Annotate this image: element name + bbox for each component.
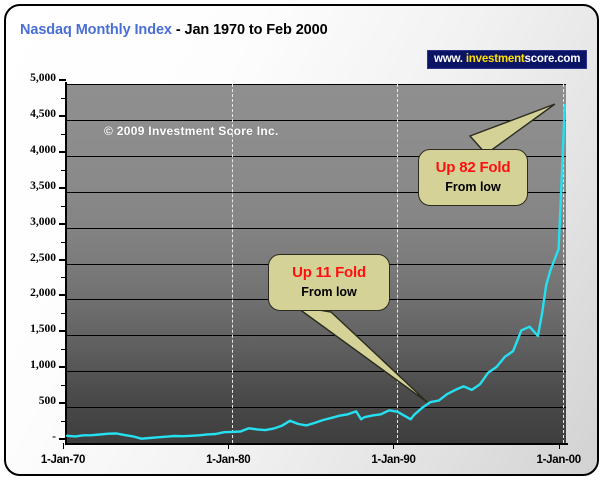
y-axis-major-tick <box>59 79 66 81</box>
badge-highlight: investment <box>466 53 525 65</box>
horizontal-gridline <box>67 335 566 336</box>
y-axis-tick-label: 4,000 <box>8 144 56 156</box>
y-axis-tick-label: 1,500 <box>8 323 56 335</box>
y-axis-tick-label: - <box>8 431 56 443</box>
title-primary: Nasdaq Monthly Index <box>20 22 172 38</box>
y-axis-tick-label: 4,500 <box>8 108 56 120</box>
badge-prefix: www. <box>434 53 466 65</box>
website-badge[interactable]: www. investmentscore.com <box>427 50 587 69</box>
x-axis-tick <box>228 443 229 449</box>
x-axis-tick <box>393 443 394 449</box>
horizontal-gridline <box>67 84 566 85</box>
y-axis-tick-label: 5,000 <box>8 72 56 84</box>
horizontal-gridline <box>67 120 566 121</box>
callout-11-subline: From low <box>269 285 389 300</box>
title-secondary: - Jan 1970 to Feb 2000 <box>172 22 328 38</box>
chart-screenshot: Nasdaq Monthly Index - Jan 1970 to Feb 2… <box>0 0 609 486</box>
callout-up-11-fold[interactable]: Up 11 Fold From low <box>268 254 390 311</box>
chart-frame: Nasdaq Monthly Index - Jan 1970 to Feb 2… <box>4 4 599 476</box>
y-axis-tick-label: 500 <box>8 395 56 407</box>
callout-82-subline: From low <box>419 180 527 195</box>
horizontal-gridline <box>67 371 566 372</box>
y-axis-tick-label: 3,500 <box>8 180 56 192</box>
y-axis-tick-label: 2,000 <box>8 287 56 299</box>
vertical-gridline <box>397 84 398 443</box>
horizontal-gridline <box>67 407 566 408</box>
x-axis-tick-label: 1-Jan-00 <box>514 454 599 466</box>
y-axis-tick-label: 2,500 <box>8 252 56 264</box>
x-axis-tick <box>63 443 64 449</box>
x-axis-tick-label: 1-Jan-70 <box>18 454 108 466</box>
x-axis-tick <box>559 443 560 449</box>
callout-11-headline: Up 11 Fold <box>269 265 389 282</box>
x-axis-line <box>65 443 568 445</box>
x-axis-tick-label: 1-Jan-80 <box>183 454 273 466</box>
callout-82-headline: Up 82 Fold <box>419 160 527 177</box>
copyright-watermark: © 2009 Investment Score Inc. <box>104 124 279 138</box>
y-axis-tick-label: 3,000 <box>8 216 56 228</box>
x-axis-tick-label: 1-Jan-90 <box>348 454 438 466</box>
callout-up-82-fold[interactable]: Up 82 Fold From low <box>418 149 528 206</box>
badge-suffix: score.com <box>525 53 581 65</box>
vertical-gridline <box>563 84 564 443</box>
y-axis-tick-label: 1,000 <box>8 359 56 371</box>
page-title: Nasdaq Monthly Index - Jan 1970 to Feb 2… <box>20 22 328 38</box>
horizontal-gridline <box>67 228 566 229</box>
